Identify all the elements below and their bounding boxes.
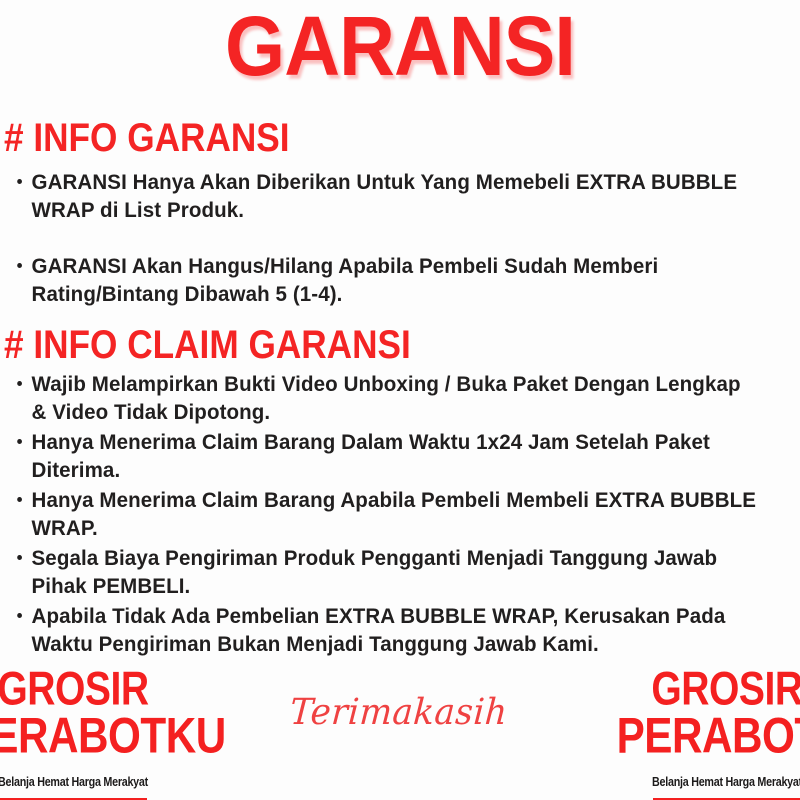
page-title: GARANSI xyxy=(32,2,768,90)
list-item: GARANSI Hanya Akan Diberikan Untuk Yang … xyxy=(0,168,760,224)
bullet-dot-icon xyxy=(17,613,22,618)
list-item-text: Apabila Tidak Ada Pembelian EXTRA BUBBLE… xyxy=(32,604,726,656)
brand-logo-right: GROSIR PERABOTKU Belanja Hemat Harga Mer… xyxy=(612,655,800,800)
footer: GROSIR PERABOTKU Belanja Hemat Harga Mer… xyxy=(0,655,800,800)
list-item: Hanya Menerima Claim Barang Dalam Waktu … xyxy=(0,428,760,484)
brand-logo-word-grosir: GROSIR xyxy=(620,655,800,712)
bullet-dot-icon xyxy=(17,263,22,268)
list-item-text: GARANSI Hanya Akan Diberikan Untuk Yang … xyxy=(32,170,738,222)
list-item: GARANSI Akan Hangus/Hilang Apabila Pembe… xyxy=(0,252,760,308)
bullet-dot-icon xyxy=(17,381,22,386)
bullet-dot-icon xyxy=(17,555,22,560)
brand-tagline: Belanja Hemat Harga Merakyat xyxy=(628,775,800,789)
list-item: Apabila Tidak Ada Pembelian EXTRA BUBBLE… xyxy=(0,602,760,658)
list-item-text: Segala Biaya Pengiriman Produk Pengganti… xyxy=(32,546,718,598)
list-item: Hanya Menerima Claim Barang Apabila Pemb… xyxy=(0,486,760,542)
list-item-text: Hanya Menerima Claim Barang Apabila Pemb… xyxy=(32,488,757,540)
brand-logo-word-perabotku: PERABOTKU xyxy=(0,706,183,762)
brand-logo-word-perabotku: PERABOTKU xyxy=(617,706,800,762)
brand-tagline: Belanja Hemat Harga Merakyat xyxy=(0,775,172,789)
list-item-text: Hanya Menerima Claim Barang Dalam Waktu … xyxy=(32,430,710,482)
info-claim-garansi-list: Wajib Melampirkan Bukti Video Unboxing /… xyxy=(0,370,796,660)
list-item-text: GARANSI Akan Hangus/Hilang Apabila Pembe… xyxy=(32,254,659,306)
section-heading-info-garansi: # INFO GARANSI xyxy=(4,116,290,160)
list-item-text: Wajib Melampirkan Bukti Video Unboxing /… xyxy=(32,372,741,424)
bullet-dot-icon xyxy=(17,179,22,184)
brand-logo-left: GROSIR PERABOTKU Belanja Hemat Harga Mer… xyxy=(0,655,188,800)
list-item: Segala Biaya Pengiriman Produk Pengganti… xyxy=(0,544,760,600)
list-item: Wajib Melampirkan Bukti Video Unboxing /… xyxy=(0,370,760,426)
thanks-text: Terimakasih xyxy=(255,693,543,733)
info-garansi-list: GARANSI Hanya Akan Diberikan Untuk Yang … xyxy=(0,168,796,336)
section-heading-info-claim-garansi: # INFO CLAIM GARANSI xyxy=(4,323,411,367)
brand-logo-word-grosir: GROSIR xyxy=(0,655,180,712)
garansi-poster: GARANSI # INFO GARANSI GARANSI Hanya Aka… xyxy=(0,0,800,800)
bullet-dot-icon xyxy=(17,439,22,444)
bullet-dot-icon xyxy=(17,497,22,502)
